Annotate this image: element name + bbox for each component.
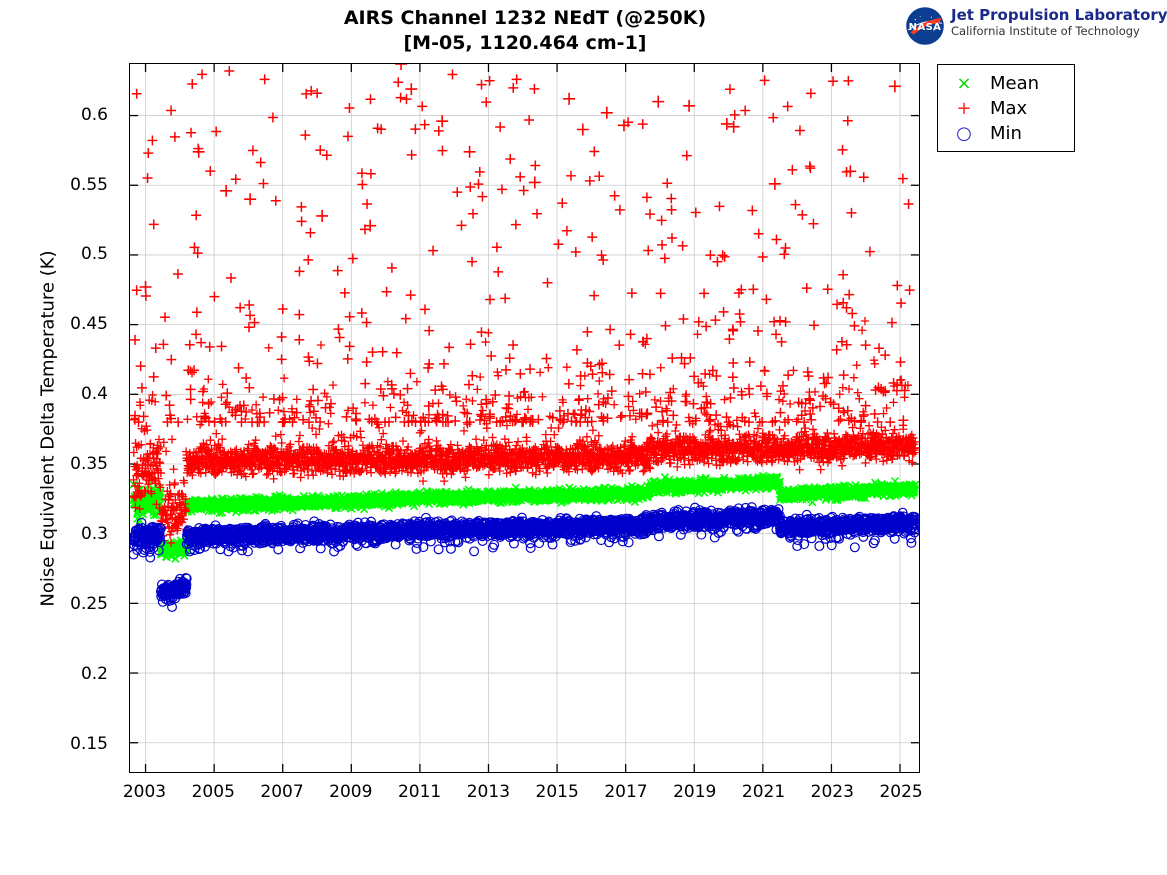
chart-legend: ×Mean+Max○Min	[937, 64, 1075, 152]
y-tick-label: 0.5	[81, 244, 108, 264]
x-tick-label: 2013	[467, 782, 510, 802]
legend-marker-x-icon: ×	[938, 75, 990, 93]
y-tick-label: 0.25	[70, 594, 108, 614]
legend-item-min[interactable]: ○Min	[938, 121, 1074, 146]
legend-marker-+-icon: +	[938, 100, 990, 118]
y-tick-label: 0.6	[81, 105, 108, 125]
caltech-name: California Institute of Technology	[951, 24, 1167, 38]
chart-title-line2: [M-05, 1120.464 cm-1]	[129, 31, 921, 56]
y-tick-label: 0.3	[81, 524, 108, 544]
series-min	[130, 503, 919, 612]
y-tick-label: 0.35	[70, 454, 108, 474]
svg-text:NASA: NASA	[909, 22, 942, 33]
x-axis-tick-labels: 2003200520072009201120132015201720192021…	[129, 782, 920, 812]
legend-item-mean[interactable]: ×Mean	[938, 71, 1074, 96]
x-tick-label: 2009	[329, 782, 372, 802]
y-tick-label: 0.2	[81, 664, 108, 684]
legend-label: Mean	[990, 73, 1039, 94]
x-tick-label: 2025	[879, 782, 922, 802]
x-tick-label: 2015	[536, 782, 579, 802]
chart-title-line1: AIRS Channel 1232 NEdT (@250K)	[129, 6, 921, 31]
y-tick-label: 0.45	[70, 314, 108, 334]
x-tick-label: 2003	[123, 782, 166, 802]
nasa-meatball-icon: NASA	[905, 6, 945, 46]
y-tick-label: 0.55	[70, 175, 108, 195]
x-tick-label: 2007	[260, 782, 303, 802]
x-tick-label: 2011	[398, 782, 441, 802]
y-tick-label: 0.4	[81, 384, 108, 404]
legend-label: Max	[990, 98, 1027, 119]
data-points-layer	[130, 64, 919, 772]
legend-label: Min	[990, 123, 1022, 144]
legend-marker-o-icon: ○	[938, 125, 990, 143]
plot-area	[129, 63, 920, 773]
jpl-wordmark: Jet Propulsion Laboratory California Ins…	[951, 7, 1167, 38]
x-tick-label: 2005	[192, 782, 235, 802]
y-tick-label: 0.15	[70, 734, 108, 754]
jpl-name: Jet Propulsion Laboratory	[951, 7, 1167, 24]
x-tick-label: 2017	[604, 782, 647, 802]
y-axis-tick-labels: 0.150.20.250.30.350.40.450.50.550.6	[0, 63, 120, 773]
chart-title: AIRS Channel 1232 NEdT (@250K) [M-05, 11…	[129, 6, 921, 56]
x-tick-label: 2019	[673, 782, 716, 802]
x-tick-label: 2023	[811, 782, 854, 802]
nasa-jpl-logo: NASA Jet Propulsion Laboratory Californi…	[905, 5, 1163, 47]
series-max	[130, 64, 919, 547]
legend-item-max[interactable]: +Max	[938, 96, 1074, 121]
x-tick-label: 2021	[742, 782, 785, 802]
